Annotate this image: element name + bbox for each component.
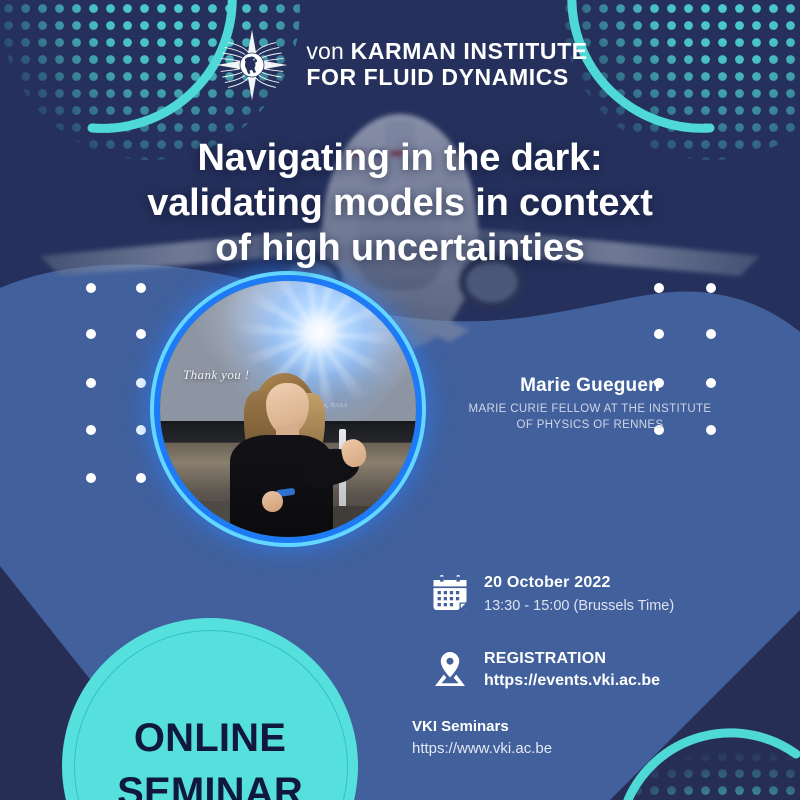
event-date-text: 20 October 2022 13:30 - 15:00 (Brussels …	[484, 574, 674, 614]
speaker-name: Marie Gueguen	[440, 375, 740, 397]
calendar-icon	[432, 574, 468, 612]
title-line-2: validating models in context	[40, 181, 760, 226]
event-time: 13:30 - 15:00 (Brussels Time)	[484, 598, 674, 614]
speaker-photo: Thank you ! Source, NASA	[160, 281, 416, 537]
speaker-photo-image: Thank you ! Source, NASA	[160, 281, 416, 537]
logo-line1-bold: KARMAN INSTITUTE	[351, 38, 588, 64]
page-title: Navigating in the dark: validating model…	[40, 136, 760, 270]
speaker-info: Marie Gueguen MARIE CURIE FELLOW AT THE …	[440, 375, 740, 433]
speaker-role: MARIE CURIE FELLOW AT THE INSTITUTE OF P…	[440, 402, 740, 433]
registration-row[interactable]: REGISTRATION https://events.vki.ac.be	[432, 650, 660, 690]
vki-compass-lion-logo-icon	[212, 24, 292, 106]
speaker-figure	[221, 373, 364, 537]
footer-url[interactable]: https://www.vki.ac.be	[412, 740, 552, 757]
speaker-role-line-1: MARIE CURIE FELLOW AT THE INSTITUTE	[469, 403, 712, 415]
seminar-poster: von KARMAN INSTITUTE FOR FLUID DYNAMICS …	[0, 0, 800, 800]
seminar-line-2: SEMINAR	[117, 766, 303, 800]
registration-label: REGISTRATION	[484, 650, 660, 668]
logo-wordmark: von KARMAN INSTITUTE FOR FLUID DYNAMICS	[306, 39, 587, 91]
event-date: 20 October 2022	[484, 574, 674, 592]
title-line-3: of high uncertainties	[40, 226, 760, 271]
seminar-line-1: ONLINE	[117, 712, 303, 766]
event-date-row: 20 October 2022 13:30 - 15:00 (Brussels …	[432, 574, 674, 614]
vki-logo: von KARMAN INSTITUTE FOR FLUID DYNAMICS	[0, 24, 800, 106]
footer-org: VKI Seminars	[412, 718, 552, 735]
location-pin-icon	[432, 650, 468, 688]
logo-line1-prefix: von	[306, 38, 350, 64]
registration-text: REGISTRATION https://events.vki.ac.be	[484, 650, 660, 690]
registration-url[interactable]: https://events.vki.ac.be	[484, 672, 660, 690]
footer-info: VKI Seminars https://www.vki.ac.be	[412, 718, 552, 757]
speaker-role-line-2: OF PHYSICS OF RENNES	[517, 419, 664, 431]
title-line-1: Navigating in the dark:	[40, 136, 760, 181]
logo-line2: FOR FLUID DYNAMICS	[306, 65, 587, 91]
online-seminar-label: ONLINE SEMINAR	[117, 712, 303, 800]
